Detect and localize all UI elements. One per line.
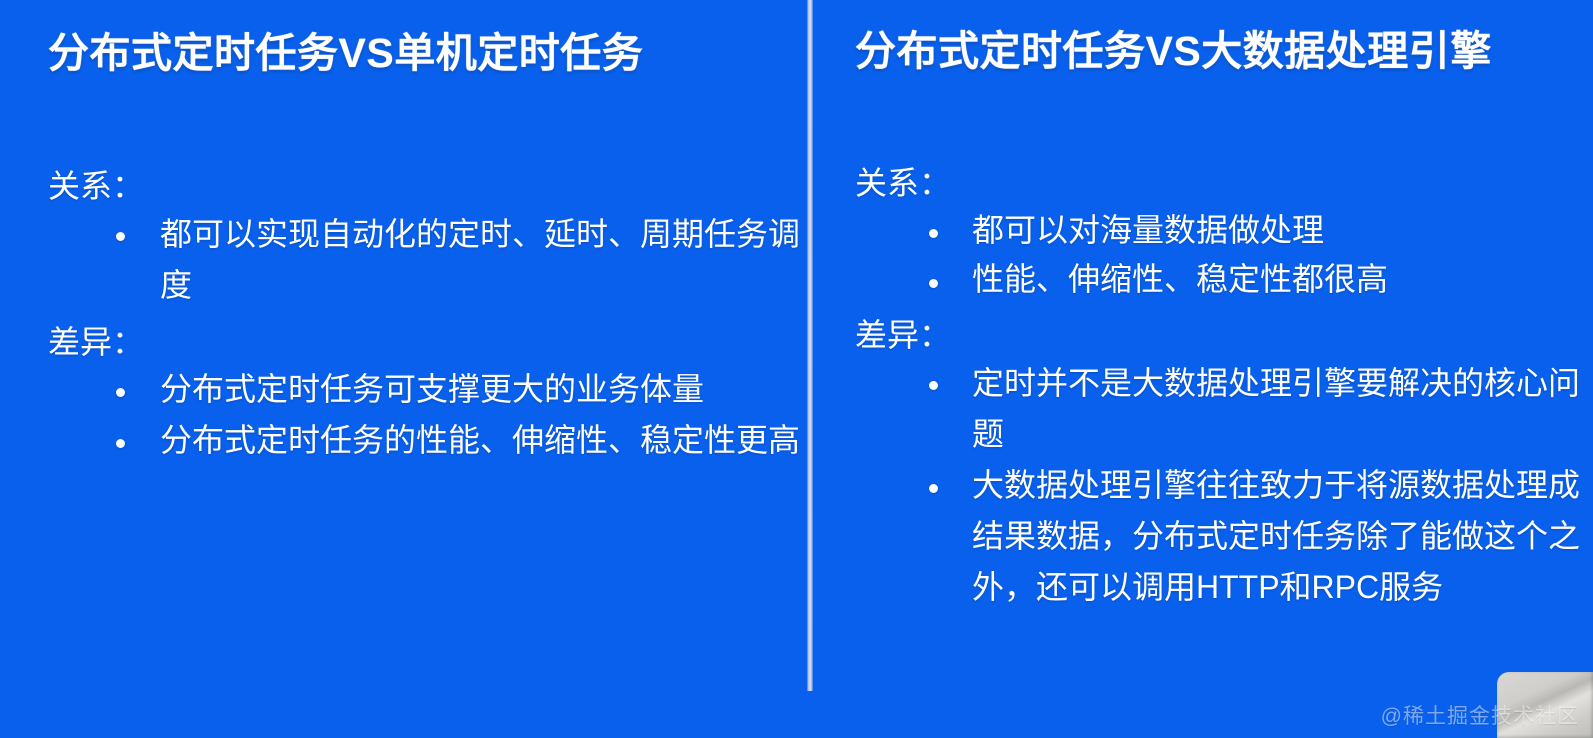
bullet-dot-icon <box>929 229 938 238</box>
bullet-dot-icon <box>116 232 125 241</box>
left-difference-label: 差异： <box>48 320 808 364</box>
left-column-title: 分布式定时任务VS单机定时任务 <box>48 0 808 77</box>
bullet-dot-icon <box>929 381 938 390</box>
list-item: 性能、伸缩性、稳定性都很高 <box>855 255 1593 305</box>
right-difference-bullets: 定时并不是大数据处理引擎要解决的核心问题 大数据处理引擎往往致力于将源数据处理成… <box>855 358 1593 614</box>
left-relationship-bullets: 都可以实现自动化的定时、延时、周期任务调度 <box>48 209 808 311</box>
right-section-relationship: 关系： 都可以对海量数据做处理 性能、伸缩性、稳定性都很高 <box>855 161 1593 305</box>
left-section-relationship: 关系： 都可以实现自动化的定时、延时、周期任务调度 <box>48 164 808 311</box>
bullet-dot-icon <box>929 279 938 288</box>
two-column-layout: 分布式定时任务VS单机定时任务 关系： 都可以实现自动化的定时、延时、周期任务调… <box>0 0 1593 738</box>
bullet-text: 大数据处理引擎往往致力于将源数据处理成结果数据，分布式定时任务除了能做这个之外，… <box>972 460 1593 614</box>
bullet-dot-icon <box>116 388 125 397</box>
left-section-difference: 差异： 分布式定时任务可支撑更大的业务体量 分布式定时任务的性能、伸缩性、稳定性… <box>48 320 808 467</box>
list-item: 分布式定时任务的性能、伸缩性、稳定性更高 <box>48 415 808 466</box>
list-item: 都可以对海量数据做处理 <box>855 206 1593 256</box>
list-item: 分布式定时任务可支撑更大的业务体量 <box>48 364 808 415</box>
bullet-text: 都可以对海量数据做处理 <box>972 206 1593 256</box>
right-relationship-bullets: 都可以对海量数据做处理 性能、伸缩性、稳定性都很高 <box>855 206 1593 306</box>
right-column-title: 分布式定时任务VS大数据处理引擎 <box>855 0 1593 75</box>
right-relationship-label: 关系： <box>855 161 1593 205</box>
right-difference-label: 差异： <box>855 313 1593 357</box>
bullet-text: 定时并不是大数据处理引擎要解决的核心问题 <box>972 358 1593 460</box>
column-divider <box>807 0 813 691</box>
column-right: 分布式定时任务VS大数据处理引擎 关系： 都可以对海量数据做处理 性能、伸缩性、… <box>808 0 1593 738</box>
bullet-dot-icon <box>116 439 125 448</box>
list-item: 大数据处理引擎往往致力于将源数据处理成结果数据，分布式定时任务除了能做这个之外，… <box>855 460 1593 614</box>
slide-canvas: 分布式定时任务VS单机定时任务 关系： 都可以实现自动化的定时、延时、周期任务调… <box>0 0 1593 738</box>
bullet-text: 性能、伸缩性、稳定性都很高 <box>972 255 1593 305</box>
column-left: 分布式定时任务VS单机定时任务 关系： 都可以实现自动化的定时、延时、周期任务调… <box>0 0 808 738</box>
bullet-text: 分布式定时任务可支撑更大的业务体量 <box>160 364 808 415</box>
left-relationship-label: 关系： <box>48 164 808 208</box>
video-thumbnail-overlay <box>1497 672 1593 738</box>
bullet-text: 分布式定时任务的性能、伸缩性、稳定性更高 <box>160 415 808 466</box>
list-item: 都可以实现自动化的定时、延时、周期任务调度 <box>48 209 808 311</box>
bullet-text: 都可以实现自动化的定时、延时、周期任务调度 <box>160 209 808 311</box>
right-section-difference: 差异： 定时并不是大数据处理引擎要解决的核心问题 大数据处理引擎往往致力于将源数… <box>855 313 1593 613</box>
list-item: 定时并不是大数据处理引擎要解决的核心问题 <box>855 358 1593 460</box>
bullet-dot-icon <box>929 484 938 493</box>
left-difference-bullets: 分布式定时任务可支撑更大的业务体量 分布式定时任务的性能、伸缩性、稳定性更高 <box>48 364 808 466</box>
